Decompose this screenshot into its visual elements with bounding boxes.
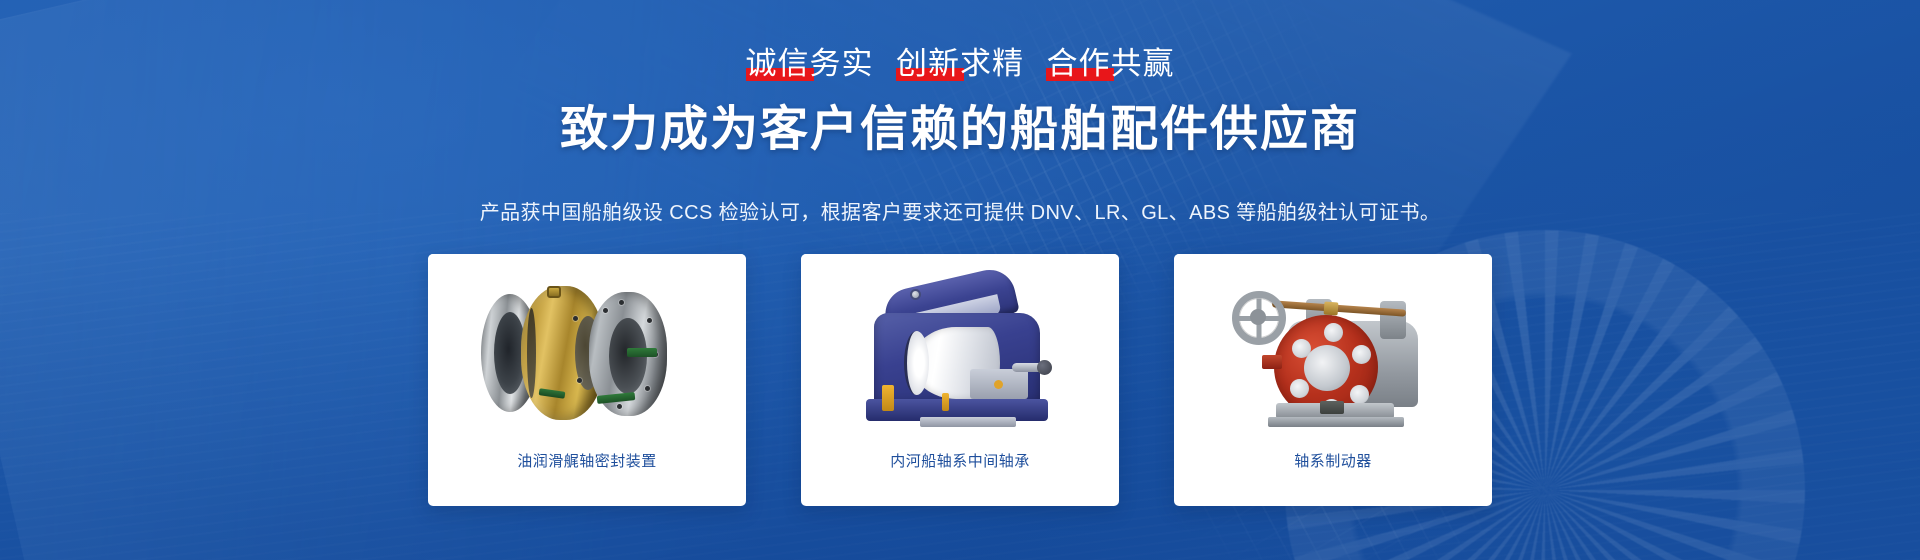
seal-bolt	[577, 378, 582, 383]
brake-disc-hole	[1352, 345, 1371, 364]
banner-tagline: 诚信务实 创新求精 合作共赢	[0, 48, 1920, 79]
seal-bolt	[603, 308, 608, 313]
product-card-label: 油润滑艉轴密封装置	[428, 450, 746, 489]
product-image-shaft-brake	[1174, 254, 1492, 450]
tagline-text-2: 创新	[896, 46, 960, 81]
brake-rod-nut	[1324, 301, 1339, 315]
seal-lifting-lug	[547, 286, 561, 298]
seal-green-bracket	[627, 348, 657, 357]
bearing-name-plate	[970, 369, 1028, 399]
hero-banner: 诚信务实 创新求精 合作共赢 致力成为客户信赖的船舶配件供应商 产品获中国船舶级…	[0, 0, 1920, 560]
seal-bolt	[619, 300, 624, 305]
tagline-text-1-rest: 务实	[810, 46, 874, 81]
brake-handwheel-hub	[1250, 309, 1266, 325]
intermediate-bearing-illustration	[860, 277, 1060, 427]
brake-disc-hole	[1324, 323, 1343, 342]
seal-bolt	[573, 316, 578, 321]
brake-disc-tab	[1262, 355, 1282, 369]
tagline-text-1: 诚信	[746, 46, 810, 81]
banner-subtitle: 产品获中国船舶级设 CCS 检验认可，根据客户要求还可提供 DNV、LR、GL、…	[0, 196, 1920, 225]
brake-disc-hole	[1290, 379, 1309, 398]
product-card[interactable]: 轴系制动器	[1174, 254, 1492, 506]
tagline-text-3: 合作	[1046, 46, 1110, 81]
brake-disc-bore	[1304, 345, 1350, 391]
seal-bolt	[617, 404, 622, 409]
tagline-group-1: 诚信务实	[746, 48, 874, 79]
seal-bolt	[647, 318, 652, 323]
tagline-text-3-rest: 共赢	[1110, 46, 1174, 81]
shaft-brake-illustration	[1228, 275, 1438, 430]
bearing-cap-knob	[910, 289, 921, 300]
product-card-label: 内河船轴系中间轴承	[801, 450, 1119, 489]
brake-disc-hole	[1350, 385, 1369, 404]
bearing-yellow-marker	[942, 393, 949, 411]
banner-headline: 致力成为客户信赖的船舶配件供应商	[0, 100, 1920, 160]
product-card[interactable]: 内河船轴系中间轴承	[801, 254, 1119, 506]
bearing-foot-plate	[920, 417, 1016, 427]
product-card-list: 油润滑艉轴密封装置	[0, 254, 1920, 506]
brake-foot-plate	[1268, 417, 1404, 427]
bearing-lock-pin	[1012, 363, 1044, 372]
brake-name-plaque	[1320, 401, 1344, 414]
product-card[interactable]: 油润滑艉轴密封装置	[428, 254, 746, 506]
brake-post-right	[1380, 301, 1406, 339]
seal-bolt	[645, 386, 650, 391]
product-card-label: 轴系制动器	[1174, 450, 1492, 489]
product-image-stern-tube-oil-seal	[428, 254, 746, 450]
bearing-yellow-marker	[882, 385, 894, 411]
tagline-group-2: 创新求精	[896, 48, 1024, 79]
banner-content: 诚信务实 创新求精 合作共赢 致力成为客户信赖的船舶配件供应商 产品获中国船舶级…	[0, 0, 1920, 560]
stern-tube-seal-illustration	[477, 282, 697, 422]
tagline-group-3: 合作共赢	[1046, 48, 1174, 79]
product-image-intermediate-bearing	[801, 254, 1119, 450]
tagline-text-2-rest: 求精	[960, 46, 1024, 81]
